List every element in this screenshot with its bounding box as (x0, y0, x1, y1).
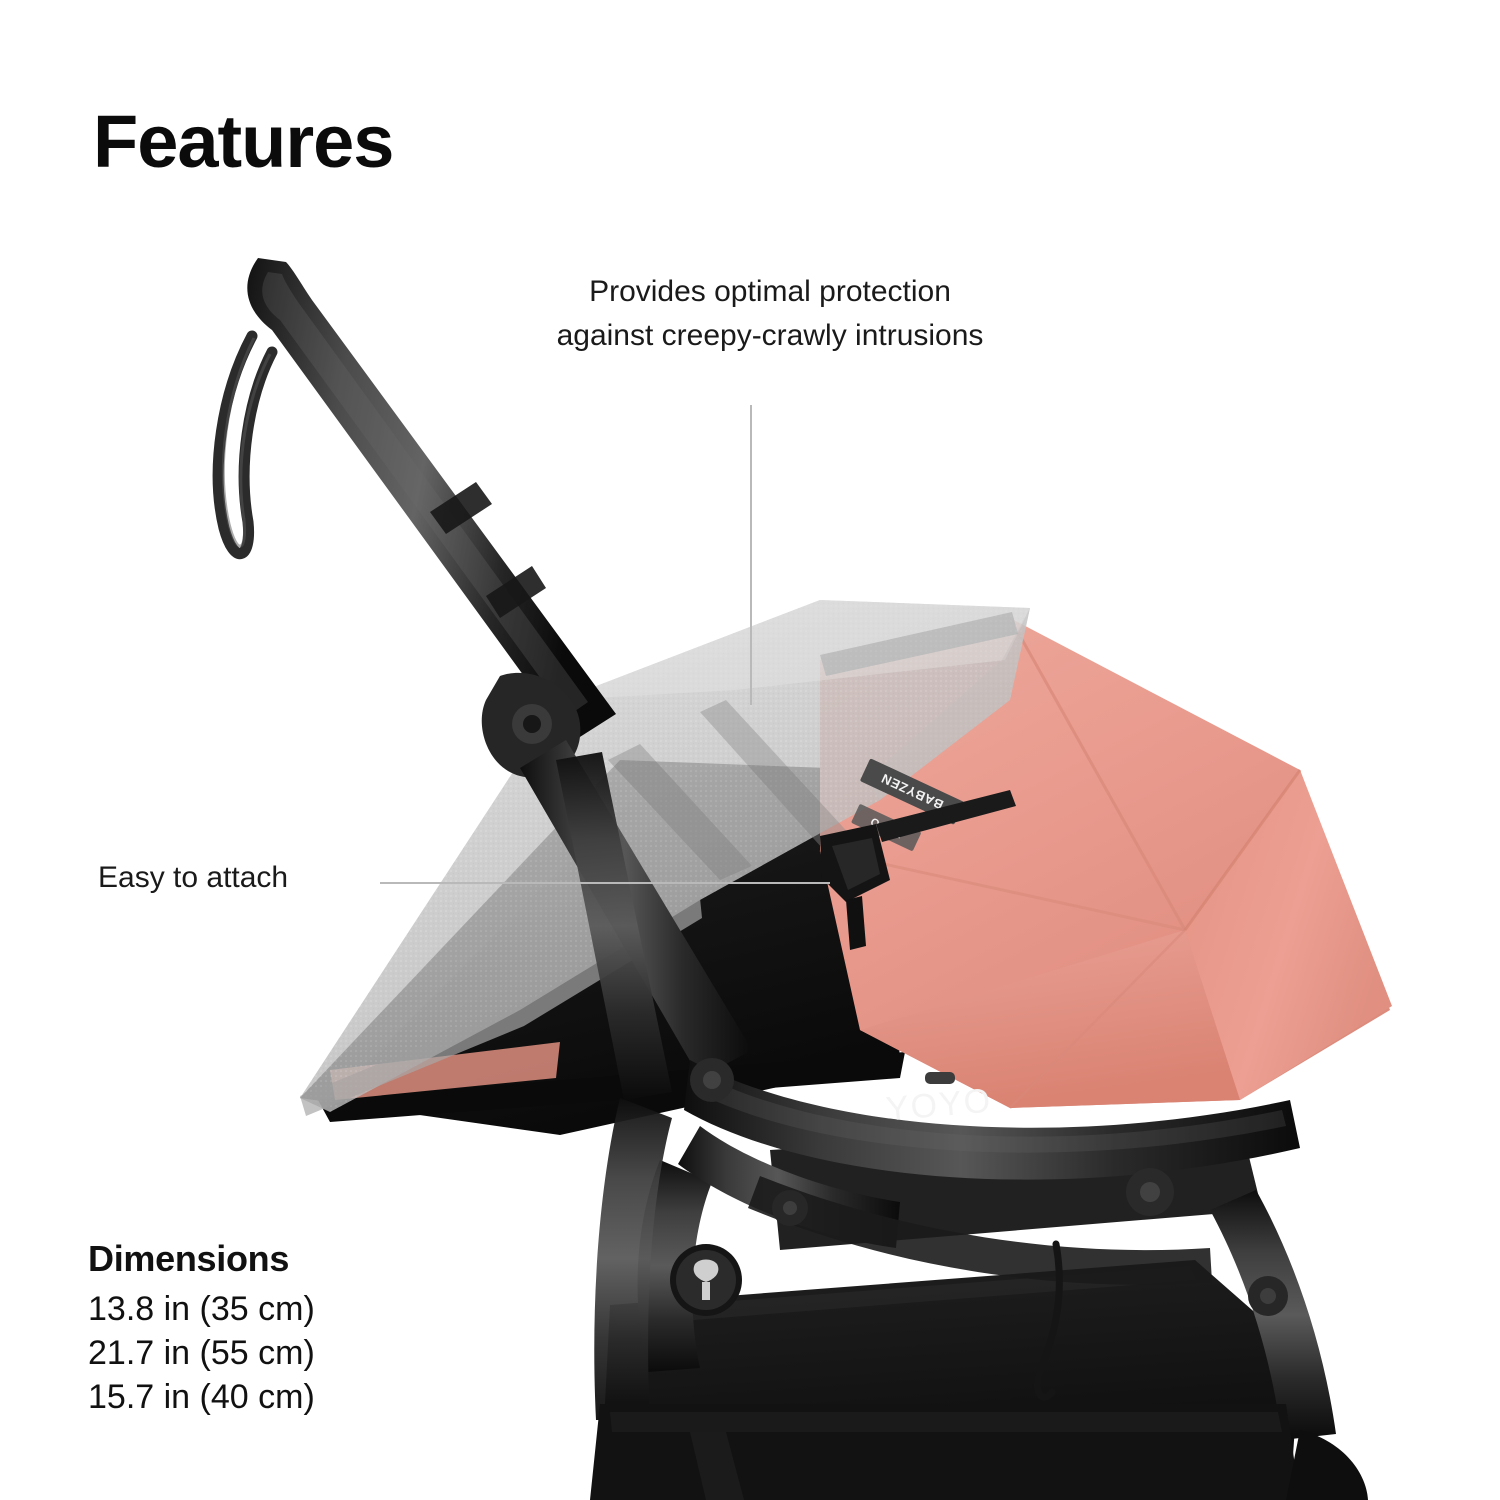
dimensions-block: Dimensions 13.8 in (35 cm) 21.7 in (55 c… (88, 1236, 315, 1419)
dimensions-heading: Dimensions (88, 1236, 315, 1283)
dimension-value-3: 15.7 in (40 cm) (88, 1375, 315, 1419)
dimension-value-1: 13.8 in (35 cm) (88, 1287, 315, 1331)
callout-protection-line-1: Provides optimal protection (470, 270, 1070, 314)
lower-seat-fabric (590, 1404, 1300, 1500)
y-hub-badge (670, 1244, 742, 1316)
leader-line-easy-to-attach (380, 882, 830, 884)
callout-protection: Provides optimal protection against cree… (470, 270, 1070, 357)
feature-diagram-canvas: BABYZEN YOYO (0, 0, 1500, 1500)
rear-wheel (1286, 1430, 1368, 1500)
callout-protection-line-2: against creepy-crawly intrusions (470, 314, 1070, 358)
frame-logo-yoyo: YOYO (884, 1081, 993, 1128)
dimension-value-2: 21.7 in (55 cm) (88, 1331, 315, 1375)
leader-line-protection (750, 405, 752, 705)
callout-easy-to-attach-label: Easy to attach (98, 858, 288, 897)
bumper-release-button (925, 1072, 955, 1084)
page-title: Features (93, 105, 393, 179)
